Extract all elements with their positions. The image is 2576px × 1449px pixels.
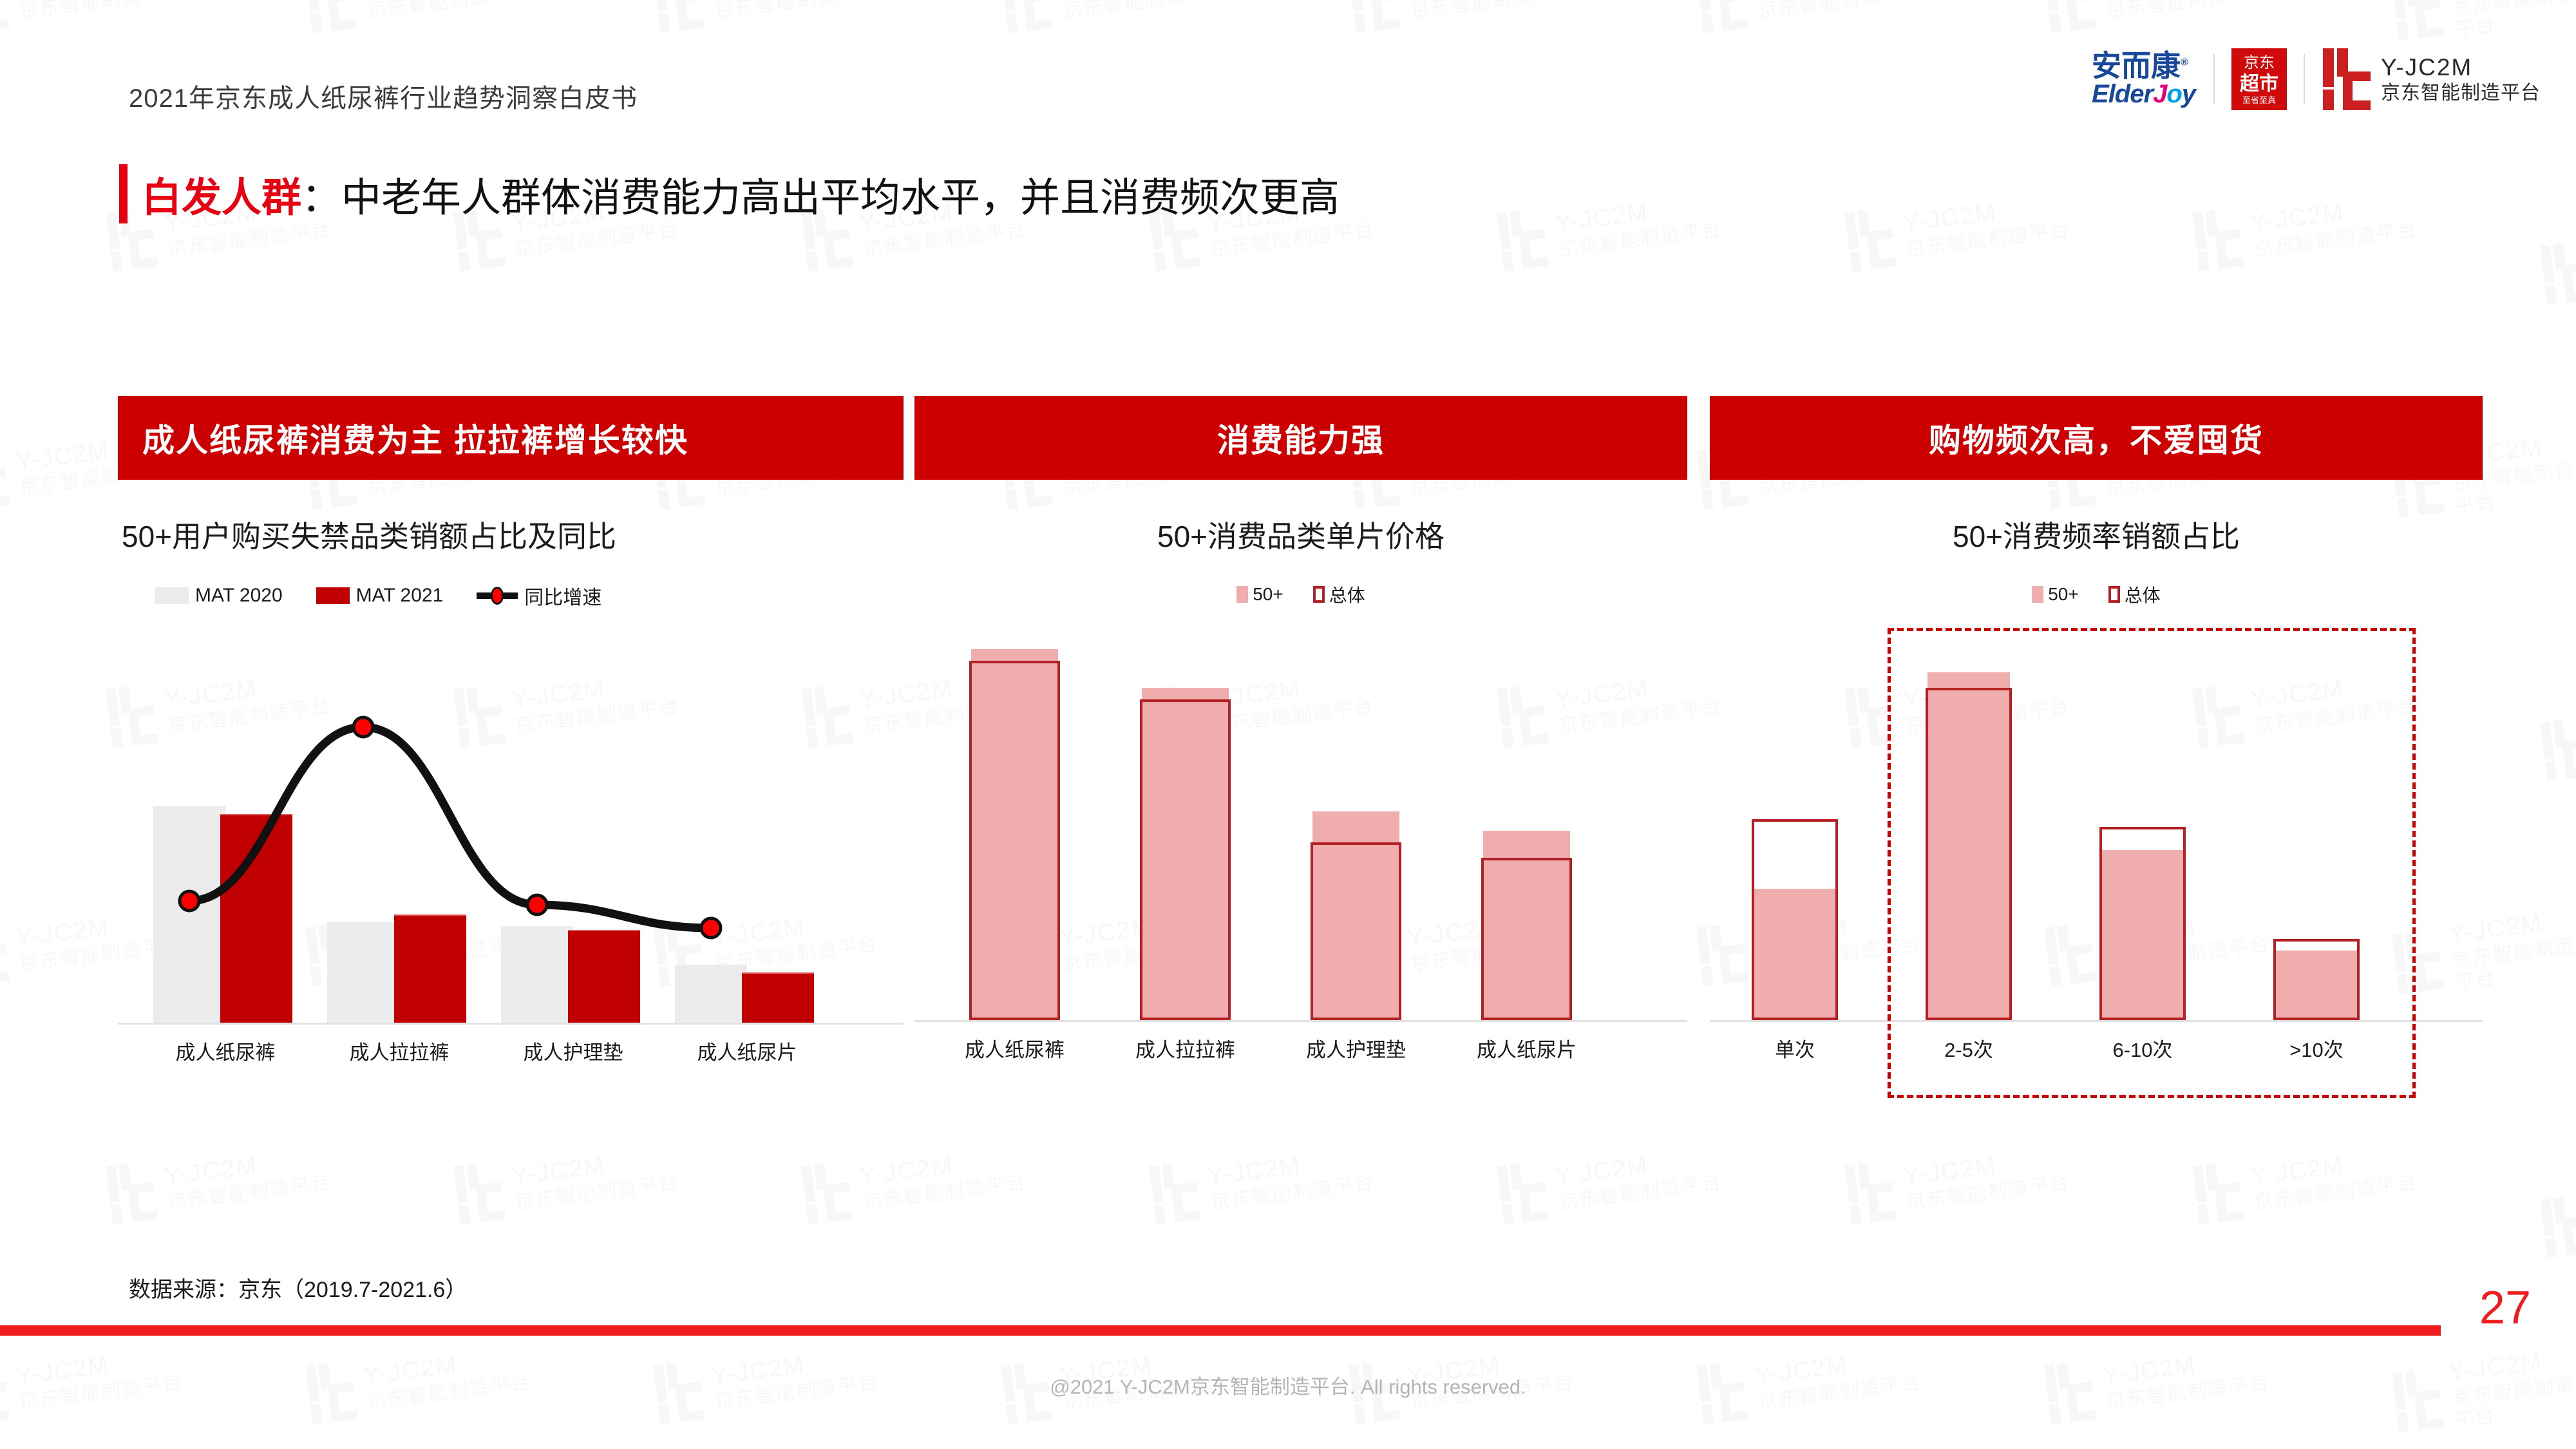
bar-mat2021	[394, 914, 466, 1023]
bar-overall	[969, 661, 1060, 1020]
bar-overall	[1752, 819, 1838, 1020]
yjc2m-cn: 京东智能制造平台	[2381, 82, 2541, 105]
pink-square-icon	[2032, 586, 2043, 603]
x-axis-label: 成人护理垫	[489, 1036, 657, 1065]
jd-logo-line3: 至省至真	[2242, 96, 2276, 105]
bar-overall	[1140, 699, 1231, 1020]
yjc2m-logo-text: Y-JC2M 京东智能制造平台	[2381, 53, 2541, 105]
slide-headline: 白发人群：中老年人群体消费能力高出平均水平，并且消费频次更高	[119, 164, 1340, 223]
legend-label: MAT 2021	[356, 585, 444, 607]
growth-line-marker	[354, 717, 373, 737]
growth-line-marker	[527, 895, 547, 914]
headline-red-part: 白发人群	[142, 176, 301, 220]
bar-mat2020	[501, 926, 573, 1023]
x-axis-label: 成人拉拉裤	[316, 1036, 483, 1065]
panel1-subtitle: 50+用户购买失禁品类销额占比及同比	[118, 513, 904, 556]
panel3-banner: 购物频次高，不爱囤货	[1710, 396, 2483, 480]
jd-logo-line1: 京东	[2244, 55, 2275, 71]
panel3-subtitle: 50+消费频率销额占比	[1710, 513, 2483, 556]
highlight-dashed-box	[1888, 628, 2416, 1098]
legend-label: 总体	[2125, 582, 2161, 607]
legend-item-overall: 总体	[1313, 582, 1365, 607]
elderjoy-cn-text: 安而康®	[2092, 51, 2188, 80]
hollow-square-icon	[2108, 586, 2120, 603]
legend-item-mat2020: MAT 2020	[155, 585, 283, 607]
gray-square-icon	[155, 587, 189, 604]
bar-mat2020	[327, 922, 399, 1023]
logo-divider-1	[2213, 54, 2215, 104]
panel-purchase-frequency: 购物频次高，不爱囤货 50+消费频率销额占比 50+ 总体 单次2-5次6-10…	[1710, 396, 2483, 1079]
legend-item-growth: 同比增速	[477, 582, 601, 610]
x-axis-label: 单次	[1714, 1034, 1875, 1063]
panel2-plot-area	[914, 636, 1687, 1022]
jd-supermarket-logo: 京东 超市 至省至真	[2231, 48, 2287, 110]
legend-item-mat2021: MAT 2021	[316, 585, 444, 607]
panel-unit-price: 消费能力强 50+消费品类单片价格 50+ 总体 成人纸尿裤成人拉拉裤成人护理垫…	[914, 396, 1687, 1079]
bar-overall	[1481, 858, 1572, 1020]
legend-item-50plus: 50+	[2032, 584, 2079, 605]
panel3-plot-area	[1710, 636, 2483, 1022]
yjc2m-en: Y-JC2M	[2381, 53, 2541, 82]
legend-label: 同比增速	[524, 582, 601, 610]
legend-label: 50+	[2048, 584, 2079, 605]
logo-bar: 安而康® ElderJoy 京东 超市 至省至真 Y-JC2M 京东智能制造平台	[2092, 48, 2541, 110]
bar-mat2021	[568, 930, 640, 1023]
bar-mat2020	[675, 965, 747, 1023]
panel-category-share: 成人纸尿裤消费为主 拉拉裤增长较快 50+用户购买失禁品类销额占比及同比 MAT…	[118, 396, 904, 1081]
footer-red-rule	[0, 1325, 2441, 1336]
data-source-note: 数据来源：京东（2019.7-2021.6）	[129, 1272, 467, 1303]
legend-label: 总体	[1329, 582, 1365, 607]
panel1-plot-area	[118, 638, 904, 1025]
yjc2m-mark-icon	[2323, 48, 2371, 110]
panel1-x-axis-labels: 成人纸尿裤成人拉拉裤成人护理垫成人纸尿片	[118, 1036, 904, 1081]
bar-overall	[1311, 842, 1401, 1020]
legend-label: MAT 2020	[195, 585, 283, 607]
bar-mat2021	[742, 972, 814, 1023]
panel1-baseline	[118, 1023, 904, 1025]
slide-root: Y-JC2M京东智能制造平台Y-JC2M京东智能制造平台Y-JC2M京东智能制造…	[0, 0, 2576, 1449]
legend-item-overall: 总体	[2108, 582, 2161, 607]
panel3-legend: 50+ 总体	[1710, 582, 2483, 607]
panel2-subtitle: 50+消费品类单片价格	[914, 513, 1687, 556]
panel1-legend: MAT 2020 MAT 2021 同比增速	[118, 582, 904, 610]
headline-text: 白发人群：中老年人群体消费能力高出平均水平，并且消费频次更高	[142, 165, 1340, 223]
headline-rest: ：中老年人群体消费能力高出平均水平，并且消费频次更高	[301, 176, 1340, 220]
panel2-x-axis-labels: 成人纸尿裤成人拉拉裤成人护理垫成人纸尿片	[914, 1034, 1687, 1079]
growth-line-marker	[701, 918, 721, 938]
copyright-text: @2021 Y-JC2M京东智能制造平台. All rights reserve…	[0, 1370, 2576, 1399]
pink-square-icon	[1236, 586, 1248, 603]
jd-logo-line2: 超市	[2240, 73, 2278, 95]
document-title: 2021年京东成人纸尿裤行业趋势洞察白皮书	[129, 77, 638, 115]
line-marker-icon	[477, 592, 518, 599]
panel2-banner: 消费能力强	[914, 396, 1687, 480]
legend-item-50plus: 50+	[1236, 584, 1283, 605]
panel1-banner: 成人纸尿裤消费为主 拉拉裤增长较快	[118, 396, 904, 480]
elderjoy-en-text: ElderJoy	[2092, 80, 2195, 108]
headline-accent-bar	[119, 164, 128, 223]
red-square-icon	[316, 587, 350, 604]
x-axis-label: 成人纸尿片	[1446, 1034, 1607, 1063]
x-axis-label: 成人护理垫	[1276, 1034, 1437, 1063]
page-number: 27	[2479, 1282, 2531, 1334]
x-axis-label: 成人拉拉裤	[1105, 1034, 1266, 1063]
panel2-legend: 50+ 总体	[914, 582, 1687, 607]
x-axis-label: 成人纸尿裤	[934, 1034, 1095, 1063]
x-axis-label: 成人纸尿裤	[142, 1036, 309, 1065]
x-axis-label: 成人纸尿片	[663, 1036, 831, 1065]
bar-mat2020	[153, 806, 225, 1023]
hollow-square-icon	[1313, 586, 1325, 603]
yjc2m-logo: Y-JC2M 京东智能制造平台	[2305, 48, 2541, 110]
legend-label: 50+	[1253, 584, 1283, 605]
panel2-baseline	[914, 1020, 1687, 1022]
bar-mat2021	[220, 814, 292, 1023]
elderjoy-logo: 安而康® ElderJoy	[2092, 51, 2213, 108]
